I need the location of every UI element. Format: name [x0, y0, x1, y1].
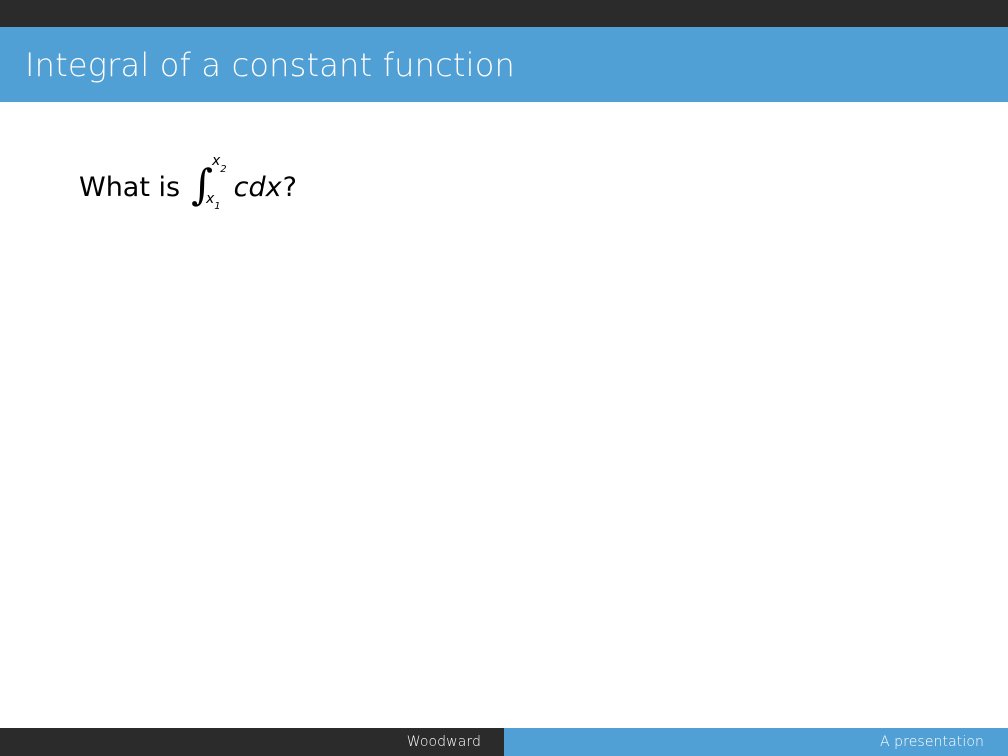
integral-with-limits: ∫ x2 x1	[191, 168, 225, 195]
footer-title-section: A presentation	[504, 728, 1008, 756]
slide-body: What is ∫ x2 x1 cdx ?	[0, 102, 1008, 728]
integrand-text: cdx	[234, 173, 282, 203]
integral-lower-limit: x1	[206, 192, 221, 210]
presentation-slide: Integral of a constant function What is …	[0, 0, 1008, 756]
page-title: Integral of a constant function	[25, 27, 515, 102]
footer-presentation-label: A presentation	[880, 734, 984, 750]
integral-expression: ∫ x2 x1 cdx	[191, 168, 282, 202]
footer-author-label: Woodward	[407, 734, 481, 750]
top-decoration-bar	[0, 0, 1008, 27]
lower-limit-subscript: 1	[214, 201, 220, 212]
content-block: What is ∫ x2 x1 cdx ?	[79, 168, 297, 202]
integral-limits: x2 x1	[210, 165, 225, 201]
upper-limit-subscript: 2	[220, 164, 226, 175]
question-prefix-text: What is	[79, 173, 180, 203]
integral-upper-limit: x2	[212, 154, 227, 172]
slide-title-bar: Integral of a constant function	[0, 27, 1008, 102]
footer-author-section: Woodward	[0, 728, 504, 756]
question-line: What is ∫ x2 x1 cdx ?	[79, 168, 297, 202]
slide-footer: Woodward A presentation	[0, 728, 1008, 756]
question-mark: ?	[283, 173, 297, 203]
